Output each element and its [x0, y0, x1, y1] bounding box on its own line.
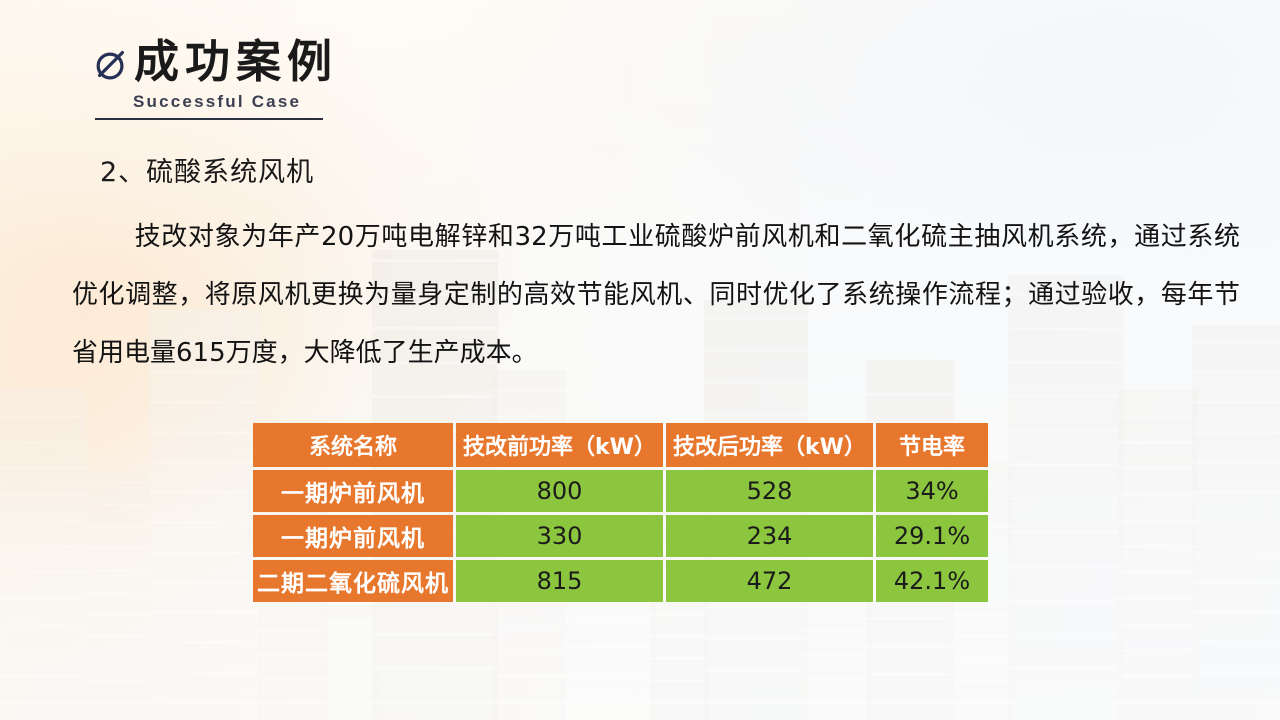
table-cell-before: 815: [456, 560, 663, 602]
table-cell-after: 234: [666, 515, 873, 557]
table-cell-system: 一期炉前风机: [253, 515, 453, 557]
table-cell-saving: 29.1%: [876, 515, 988, 557]
table-header-cell-saving: 节电率: [876, 423, 988, 467]
results-table-wrapper: 系统名称 技改前功率（kW） 技改后功率（kW） 节电率 一期炉前风机 800 …: [250, 420, 991, 605]
table-cell-before: 800: [456, 470, 663, 512]
table-cell-system: 一期炉前风机: [253, 470, 453, 512]
table-row: 一期炉前风机 330 234 29.1%: [253, 515, 988, 557]
table-header-cell-after: 技改后功率（kW）: [666, 423, 873, 467]
slide-canvas: 成功案例 Successful Case 2、硫酸系统风机 技改对象为年产20万…: [0, 0, 1280, 720]
section-heading: 2、硫酸系统风机: [100, 150, 314, 189]
table-row: 一期炉前风机 800 528 34%: [253, 470, 988, 512]
table-cell-system: 二期二氧化硫风机: [253, 560, 453, 602]
table-cell-saving: 34%: [876, 470, 988, 512]
table-cell-after: 472: [666, 560, 873, 602]
title-divider: [95, 118, 323, 120]
slide-title-row: 成功案例: [92, 36, 338, 88]
table-cell-after: 528: [666, 470, 873, 512]
body-paragraph: 技改对象为年产20万吨电解锌和32万吨工业硫酸炉前风机和二氧化硫主抽风机系统，通…: [72, 208, 1240, 382]
paragraph-text: 技改对象为年产20万吨电解锌和32万吨工业硫酸炉前风机和二氧化硫主抽风机系统，通…: [72, 222, 1240, 368]
table-cell-saving: 42.1%: [876, 560, 988, 602]
table-header-row: 系统名称 技改前功率（kW） 技改后功率（kW） 节电率: [253, 423, 988, 467]
circle-slash-icon: [92, 46, 130, 84]
results-table: 系统名称 技改前功率（kW） 技改后功率（kW） 节电率 一期炉前风机 800 …: [250, 420, 991, 605]
table-header-cell-before: 技改前功率（kW）: [456, 423, 663, 467]
table-cell-before: 330: [456, 515, 663, 557]
page-subtitle: Successful Case: [133, 92, 301, 112]
page-title: 成功案例: [134, 36, 338, 88]
table-header-cell-system: 系统名称: [253, 423, 453, 467]
table-row: 二期二氧化硫风机 815 472 42.1%: [253, 560, 988, 602]
